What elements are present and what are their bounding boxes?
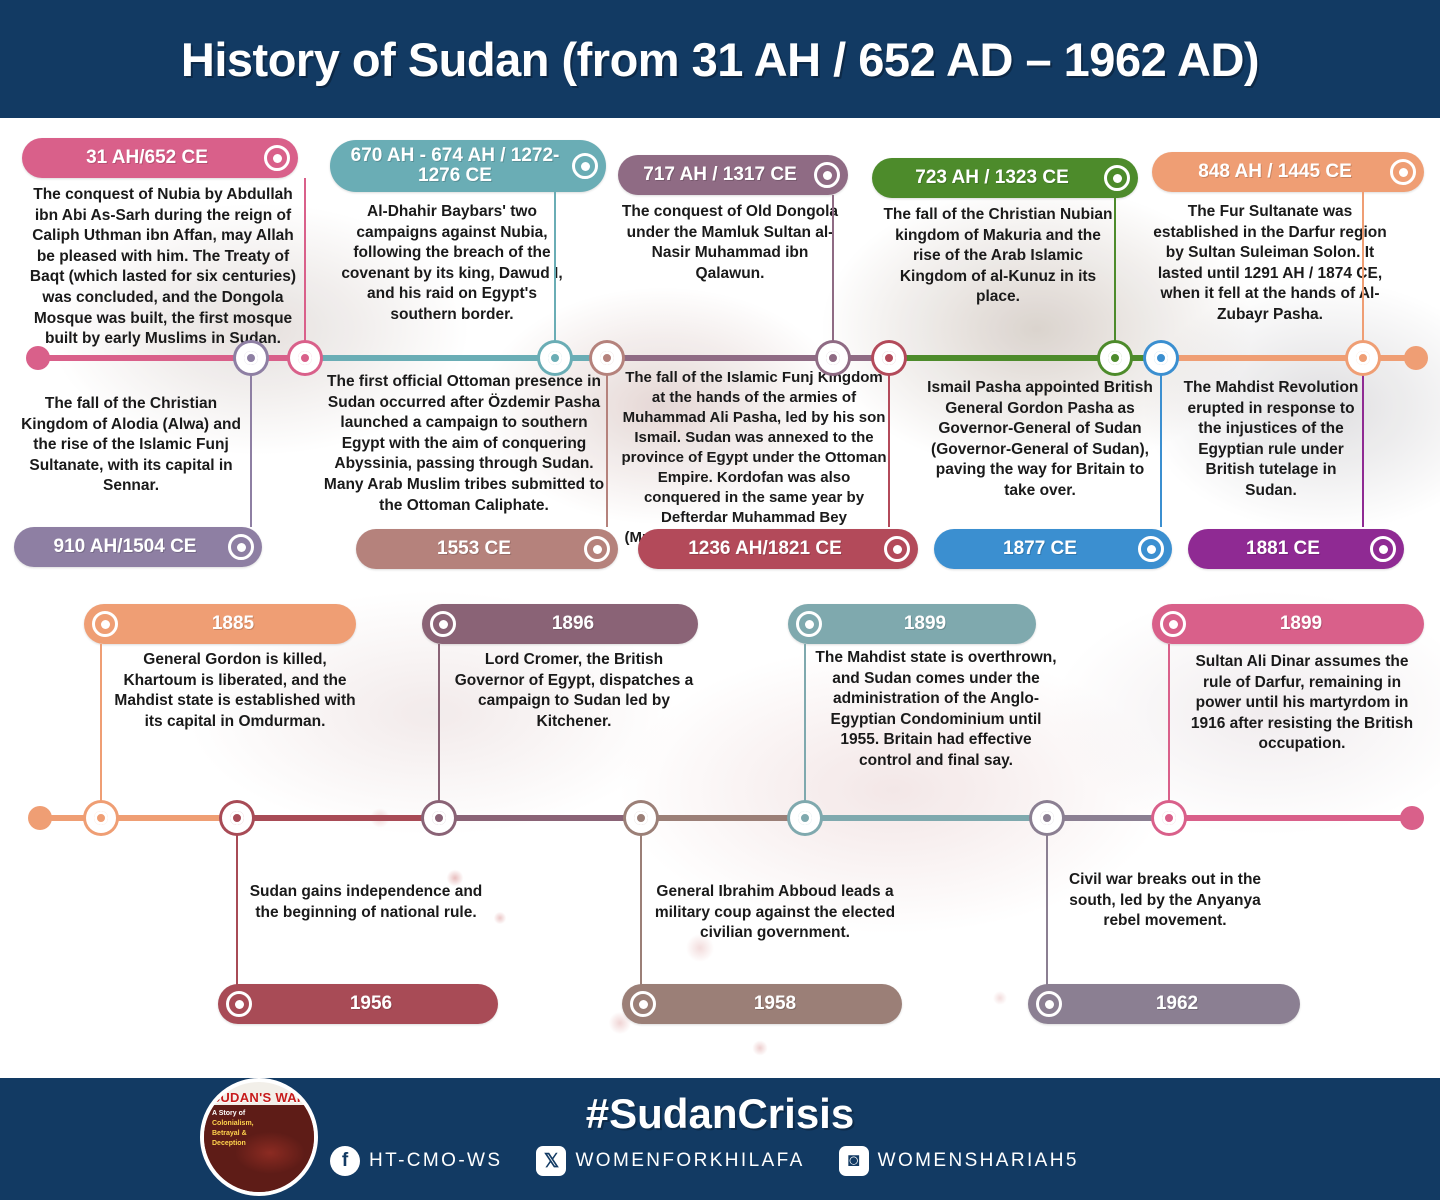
event-text-670ah: Al-Dhahir Baybars' two campaigns against… [332,202,572,326]
axis-node-1877[interactable] [1146,343,1176,373]
logo-line-2: Colonialism, [212,1119,254,1129]
event-pill-1881[interactable]: 1881 CE [1188,529,1404,569]
axis-start-cap-row1 [26,346,50,370]
event-pill-label: 910 AH/1504 CE [22,537,228,557]
event-pill-label: 1553 CE [364,539,584,559]
bullseye-icon [884,536,910,562]
logo-line-4: Deception [212,1139,254,1149]
stem-1877 [1160,362,1162,527]
axis-node-1896[interactable] [424,803,454,833]
event-text-1885: General Gordon is killed, Khartoum is li… [110,650,360,732]
stem-670ah [554,192,556,348]
event-pill-1899-darfur[interactable]: 1899 [1152,604,1424,644]
event-pill-label: 1896 [456,614,690,634]
bullseye-icon [226,991,252,1017]
stem-1956 [236,822,238,986]
event-pill-1958[interactable]: 1958 [622,984,902,1024]
instagram-icon: ◙ [839,1146,869,1176]
event-text-910ah: The fall of the Christian Kingdom of Alo… [18,394,244,497]
bullseye-icon [1104,165,1130,191]
facebook-icon: f [330,1146,360,1176]
event-pill-670ah[interactable]: 670 AH - 674 AH / 1272-1276 CE [330,140,606,192]
bullseye-icon [1160,611,1186,637]
event-pill-1885[interactable]: 1885 [84,604,356,644]
instagram-handle: WOMENSHARIAH5 [878,1150,1079,1172]
event-text-1877: Ismail Pasha appointed British General G… [922,378,1158,502]
axis-end-cap-row2 [1400,806,1424,830]
event-text-1896: Lord Cromer, the British Governor of Egy… [448,650,700,732]
event-text-723ah: The fall of the Christian Nubian kingdom… [880,205,1116,308]
stem-717ah [832,195,834,348]
logo-line-1: A Story of [212,1109,254,1119]
axis-node-31ah[interactable] [290,343,320,373]
bullseye-icon [814,162,840,188]
event-pill-label: 1881 CE [1196,539,1370,559]
sudans-war-logo: SUDAN'S WAR A Story of Colonialism, Betr… [200,1078,318,1196]
axis-node-1899a[interactable] [790,803,820,833]
axis-node-1885[interactable] [86,803,116,833]
event-pill-1962[interactable]: 1962 [1028,984,1300,1024]
axis-node-1956[interactable] [222,803,252,833]
event-pill-label: 848 AH / 1445 CE [1160,162,1390,182]
event-pill-label: 1236 AH/1821 CE [646,539,884,559]
bullseye-icon [228,534,254,560]
event-pill-label: 1899 [822,614,1028,634]
event-text-31ah: The conquest of Nubia by Abdullah ibn Ab… [22,185,304,350]
axis-node-1553[interactable] [592,343,622,373]
event-text-1881: The Mahdist Revolution erupted in respon… [1182,378,1360,502]
event-text-1236ah: The fall of the Islamic Funj Kingdom at … [620,368,888,547]
axis-segment-r2-3 [436,815,646,821]
stem-1236ah [888,362,890,527]
event-pill-label: 717 AH / 1317 CE [626,165,814,185]
stem-1958 [640,822,642,986]
event-text-1553: The first official Ottoman presence in S… [322,372,606,516]
event-text-717ah: The conquest of Old Dongola under the Ma… [620,202,840,284]
event-pill-label: 1877 CE [942,539,1138,559]
stem-1896 [438,644,440,808]
event-pill-910ah[interactable]: 910 AH/1504 CE [14,527,262,567]
event-pill-1553[interactable]: 1553 CE [356,529,618,569]
bullseye-icon [92,611,118,637]
page-header: History of Sudan (from 31 AH / 652 AD – … [0,0,1440,118]
event-pill-label: 31 AH/652 CE [30,148,264,168]
axis-node-1962[interactable] [1032,803,1062,833]
social-links: f HT-CMO-WS 𝕏 WOMENFORKHILAFA ◙ WOMENSHA… [330,1146,1079,1176]
facebook-handle: HT-CMO-WS [369,1150,502,1172]
x-twitter-icon: 𝕏 [536,1146,566,1176]
bullseye-icon [584,536,610,562]
stem-31ah [304,178,306,348]
event-text-1899-mahdist: The Mahdist state is overthrown, and Sud… [812,648,1060,772]
bullseye-icon [1370,536,1396,562]
axis-start-cap-row2 [28,806,52,830]
stem-1881 [1362,362,1364,527]
logo-title: SUDAN'S WAR [211,1090,306,1105]
axis-node-1236ah[interactable] [874,343,904,373]
event-pill-1899-mahdist[interactable]: 1899 [788,604,1036,644]
bullseye-icon [430,611,456,637]
event-pill-848ah[interactable]: 848 AH / 1445 CE [1152,152,1424,192]
stem-1885 [100,644,102,808]
bullseye-icon [1138,536,1164,562]
bullseye-icon [1036,991,1062,1017]
social-instagram[interactable]: ◙ WOMENSHARIAH5 [839,1146,1079,1176]
axis-segment-r2-5 [800,815,1050,821]
event-text-1956: Sudan gains independence and the beginni… [246,882,486,923]
axis-node-1958[interactable] [626,803,656,833]
bullseye-icon [1390,159,1416,185]
event-text-1899-darfur: Sultan Ali Dinar assumes the rule of Dar… [1180,652,1424,755]
stem-1899-darfur [1168,644,1170,808]
event-text-848ah: The Fur Sultanate was established in the… [1152,202,1388,326]
stem-848ah [1362,192,1364,348]
event-pill-label: 723 AH / 1323 CE [880,168,1104,188]
axis-segment-r2-1 [36,815,236,821]
event-pill-label: 1899 [1186,614,1416,634]
event-pill-31ah[interactable]: 31 AH/652 CE [22,138,298,178]
logo-line-3: Betrayal & [212,1129,254,1139]
bullseye-icon [572,153,598,179]
x-handle: WOMENFORKHILAFA [575,1150,804,1172]
event-pill-1956[interactable]: 1956 [218,984,498,1024]
stem-1553 [606,362,608,527]
event-pill-1896[interactable]: 1896 [422,604,698,644]
event-pill-1877[interactable]: 1877 CE [934,529,1172,569]
axis-segment-r2-2 [228,815,443,821]
stem-1899-mahdist [804,644,806,808]
social-x[interactable]: 𝕏 WOMENFORKHILAFA [536,1146,804,1176]
axis-node-910ah[interactable] [236,343,266,373]
event-pill-723ah[interactable]: 723 AH / 1323 CE [872,158,1138,198]
axis-segment-5 [1160,355,1425,361]
infographic-page: History of Sudan (from 31 AH / 652 AD – … [0,0,1440,1200]
event-pill-label: 1958 [656,994,894,1014]
event-text-1958: General Ibrahim Abboud leads a military … [650,882,900,944]
stem-1962 [1046,822,1048,986]
event-pill-label: 1885 [118,614,348,634]
axis-node-670ah[interactable] [540,343,570,373]
bullseye-icon [630,991,656,1017]
axis-segment-1 [28,355,328,361]
axis-node-717ah[interactable] [818,343,848,373]
axis-segment-r2-4 [638,815,808,821]
axis-node-723ah[interactable] [1100,343,1130,373]
event-text-1962: Civil war breaks out in the south, led b… [1056,870,1274,932]
logo-artwork: A Story of Colonialism, Betrayal & Decep… [204,1105,314,1192]
logo-subtitle: A Story of Colonialism, Betrayal & Decep… [212,1109,254,1150]
stem-723ah [1114,198,1116,348]
social-facebook[interactable]: f HT-CMO-WS [330,1146,502,1176]
bullseye-icon [796,611,822,637]
event-pill-label: 1962 [1062,994,1292,1014]
bullseye-icon [264,145,290,171]
axis-end-cap-row1 [1404,346,1428,370]
axis-node-1899b[interactable] [1154,803,1184,833]
stem-910ah [250,362,252,527]
axis-segment-r2-7 [1164,815,1414,821]
event-pill-label: 670 AH - 674 AH / 1272-1276 CE [338,146,572,186]
event-pill-1236ah[interactable]: 1236 AH/1821 CE [638,529,918,569]
event-pill-717ah[interactable]: 717 AH / 1317 CE [618,155,848,195]
axis-node-848ah[interactable] [1348,343,1378,373]
page-title: History of Sudan (from 31 AH / 652 AD – … [181,32,1259,87]
event-pill-label: 1956 [252,994,490,1014]
